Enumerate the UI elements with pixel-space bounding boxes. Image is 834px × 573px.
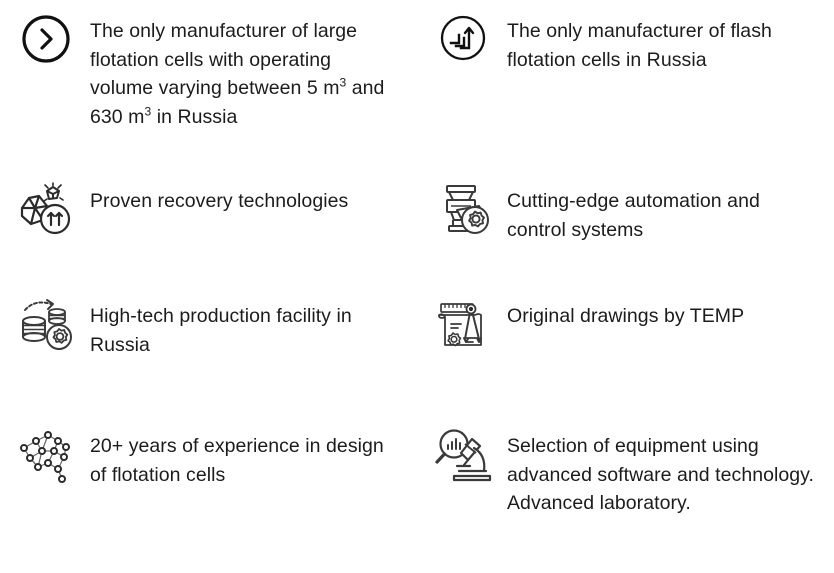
feature-text-part-3: in Russia bbox=[151, 106, 237, 128]
feature-item-years-experience: 20+ years of experience in design of flo… bbox=[0, 415, 417, 573]
network-nodes-icon bbox=[14, 425, 78, 489]
feature-item-original-drawings: Original drawings by TEMP bbox=[417, 285, 834, 415]
industrial-machine-gear-icon bbox=[431, 180, 495, 244]
feature-label: The only manufacturer of large flotation… bbox=[78, 10, 398, 131]
feature-item-large-flotation-cells: The only manufacturer of large flotation… bbox=[0, 0, 417, 170]
feature-item-equipment-selection: Selection of equipment using advanced so… bbox=[417, 415, 834, 573]
feature-label: Proven recovery technologies bbox=[78, 180, 348, 216]
feature-text-part-1: The only manufacturer of large flotation… bbox=[90, 20, 357, 99]
feature-label: 20+ years of experience in design of flo… bbox=[78, 425, 398, 489]
production-cylinders-gear-icon bbox=[14, 295, 78, 359]
feature-item-proven-recovery: Proven recovery technologies bbox=[0, 170, 417, 285]
features-grid: The only manufacturer of large flotation… bbox=[0, 0, 834, 573]
ore-recovery-arrows-icon bbox=[14, 180, 78, 244]
circle-stacked-arrows-icon bbox=[431, 10, 495, 74]
microscope-magnifier-chart-icon bbox=[431, 425, 495, 489]
feature-label: Original drawings by TEMP bbox=[495, 295, 744, 331]
feature-label: High-tech production facility in Russia bbox=[78, 295, 398, 359]
feature-item-flash-flotation-cells: The only manufacturer of flash flotation… bbox=[417, 0, 834, 170]
feature-label: Cutting-edge automation and control syst… bbox=[495, 180, 817, 244]
circle-chevron-right-icon bbox=[14, 10, 78, 74]
feature-item-production-facility: High-tech production facility in Russia bbox=[0, 285, 417, 415]
feature-label: The only manufacturer of flash flotation… bbox=[495, 10, 817, 74]
feature-label: Selection of equipment using advanced so… bbox=[495, 425, 817, 518]
feature-item-automation-control: Cutting-edge automation and control syst… bbox=[417, 170, 834, 285]
blueprint-compass-ruler-icon bbox=[431, 295, 495, 359]
